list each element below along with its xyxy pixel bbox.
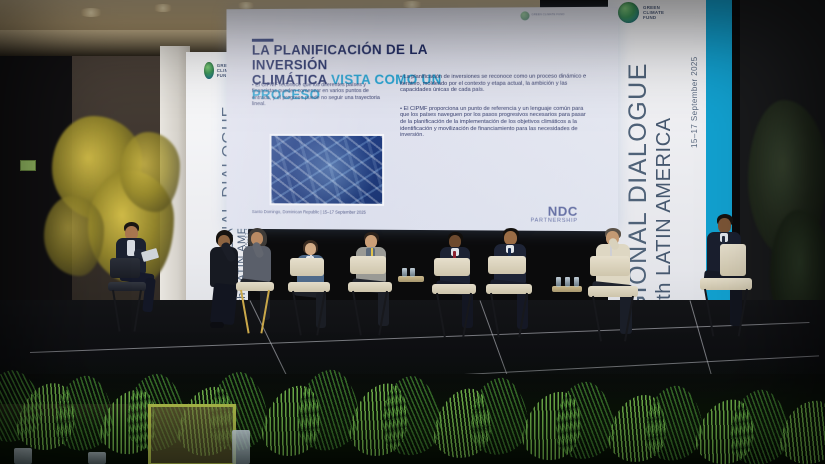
title-underline — [252, 39, 274, 42]
slide-gcf-logo: GREEN CLIMATE FUND — [520, 11, 564, 20]
chair-back — [350, 256, 386, 274]
chair-9 — [700, 244, 758, 336]
conference-photo: GREEN CLIMATE FUND GCF REGIONAL DIALOGUE… — [0, 0, 825, 464]
globe-icon — [520, 11, 529, 20]
head — [718, 218, 731, 233]
chair-5 — [348, 256, 398, 336]
chair-leg — [436, 293, 446, 338]
gcf-logo-right: GREEN CLIMATE FUND — [618, 2, 664, 23]
slide-gcf-logo-text: GREEN CLIMATE FUND — [532, 14, 565, 17]
shoe — [210, 322, 224, 328]
bullet-left-1: • El CIPMF reconoce que los diferentes p… — [252, 82, 382, 108]
banner-right-sub-text: with LATIN AMERICA — [653, 117, 676, 320]
chair-seat — [588, 286, 638, 297]
ceiling-light — [152, 4, 174, 12]
water-glass — [402, 268, 407, 277]
presentation-screen: GREEN CLIMATE FUND LA PLANIFICACIÓN DE L… — [226, 7, 618, 232]
chair-4 — [288, 258, 336, 336]
water-glass — [410, 268, 415, 277]
water-glass — [565, 277, 570, 287]
ceiling-light — [78, 8, 104, 17]
slide-surface: GREEN CLIMATE FUND LA PLANIFICACIÓN DE L… — [226, 7, 618, 232]
chair-leg — [518, 293, 528, 338]
water-glass — [574, 277, 579, 287]
chair-3 — [236, 262, 280, 334]
bullet-right-2: • El CIPMF proporciona un punto de refer… — [400, 106, 591, 139]
chair-back — [590, 256, 630, 276]
chair-6 — [432, 258, 482, 338]
foreground-water-glass — [88, 452, 106, 464]
ndc-partnership-logo: NDC PARTNERSHIP — [531, 205, 578, 225]
water-glass — [556, 277, 561, 287]
chair-back — [720, 244, 746, 276]
ceiling-light — [236, 2, 256, 9]
slide-bullets-left: • El CIPMF reconoce que los diferentes p… — [252, 82, 382, 112]
globe-icon — [618, 2, 639, 23]
chair-back — [110, 258, 140, 278]
foreground-water-glass — [232, 430, 250, 464]
chair-leg — [112, 290, 121, 332]
slide-image-highway — [272, 136, 383, 204]
head — [305, 243, 316, 255]
chair-leg — [133, 290, 142, 332]
foreground-sign-frame[interactable] — [148, 404, 236, 464]
slide-title-line1: LA PLANIFICACIÓN DE LA INVERSIÓN — [252, 42, 427, 73]
chair-back — [434, 258, 470, 276]
leg — [210, 283, 238, 325]
globe-icon — [204, 62, 214, 79]
chair-back — [290, 258, 324, 276]
chair-leg — [316, 291, 326, 336]
bullet-right-1: • La planificación de inversiones se rec… — [400, 74, 591, 94]
chair-seat — [700, 278, 752, 290]
ceiling-light — [400, 1, 424, 8]
chair-leg — [738, 289, 748, 337]
slide-bullets-right: • La planificación de inversiones se rec… — [400, 74, 591, 144]
slide-footer: Santo Domingo, Dominican Republic | 15–1… — [252, 209, 366, 215]
chair-leg — [260, 290, 270, 334]
chair-leg — [462, 293, 472, 338]
chair-leg — [352, 291, 362, 336]
ndc-logo-line2: PARTNERSHIP — [531, 219, 578, 225]
chair-8 — [588, 256, 644, 342]
chair-leg — [624, 296, 634, 342]
chair-leg — [292, 291, 302, 336]
gcf-logo-right-line3: FUND — [643, 15, 664, 20]
ndc-logo-line1: NDC — [531, 205, 578, 218]
chair-leg — [378, 291, 388, 336]
chair-back — [488, 256, 526, 274]
chair-leg — [704, 289, 714, 337]
head — [504, 231, 517, 245]
chair-leg — [240, 290, 250, 334]
chair-7 — [486, 256, 538, 338]
foreground-water-glass — [14, 448, 32, 464]
exit-sign — [20, 160, 36, 171]
chair-leg — [490, 293, 500, 338]
chair-1 — [108, 258, 152, 332]
chair-leg — [592, 296, 602, 342]
banner-right-date-text: 15–17 September 2025 — [690, 56, 699, 148]
